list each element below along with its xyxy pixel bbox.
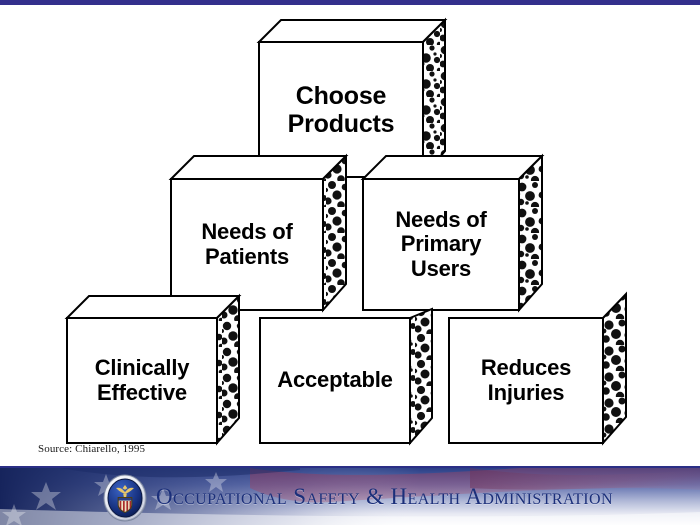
block-needs-of-patients: Needs of Patients: [170, 155, 370, 315]
block-pyramid-diagram: Choose Products: [0, 5, 700, 466]
block-needs-of-primary-users-shape: [362, 155, 567, 315]
block-acceptable: Acceptable: [259, 308, 457, 445]
footer-agency-title: Occupational Safety & Health Administrat…: [156, 468, 613, 525]
block-clinically-effective-shape: [66, 295, 266, 445]
block-needs-of-patients-shape: [170, 155, 370, 315]
osha-agency-seal: [103, 474, 147, 522]
block-clinically-effective: Clinically Effective: [66, 295, 266, 445]
source-attribution: Source: Chiarello, 1995: [38, 443, 145, 455]
block-reduces-injuries: Reduces Injuries: [448, 293, 653, 445]
block-reduces-injuries-shape: [448, 293, 653, 445]
slide-canvas: Choose Products: [0, 0, 700, 525]
block-acceptable-shape: [259, 308, 457, 445]
block-needs-of-primary-users: Needs of Primary Users: [362, 155, 567, 315]
